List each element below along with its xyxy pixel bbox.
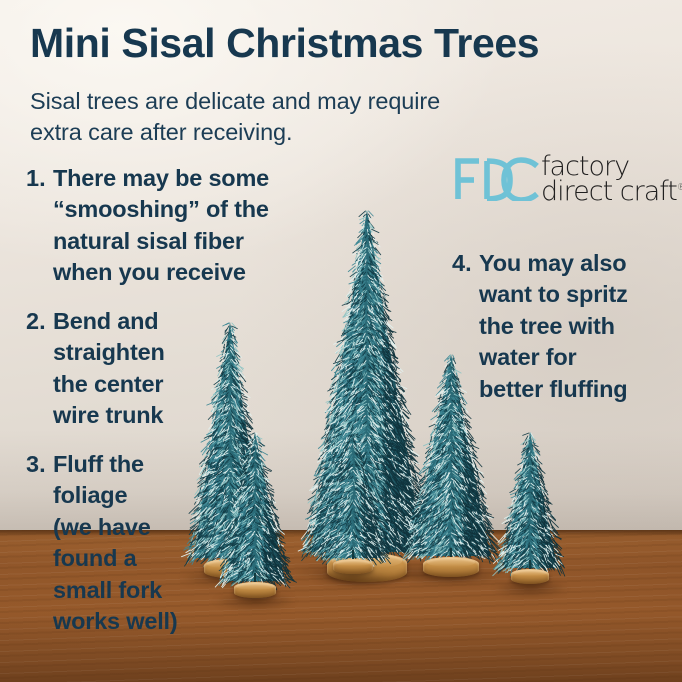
instruction-text-line: “smooshing” of the xyxy=(53,194,269,225)
instruction-text-line: water for xyxy=(479,342,628,373)
instruction-text-line: There may be some xyxy=(53,163,269,194)
instruction-item: 1.There may be some“smooshing” of thenat… xyxy=(26,163,316,289)
logo-word-line-2-text: direct craft xyxy=(541,176,677,207)
instruction-list-left: 1.There may be some“smooshing” of thenat… xyxy=(26,163,316,655)
instruction-text-line: foliage xyxy=(53,480,177,511)
instruction-text: There may be some“smooshing” of thenatur… xyxy=(53,163,269,289)
instruction-number: 4. xyxy=(452,248,479,405)
instruction-text-line: small fork xyxy=(53,575,177,606)
instruction-text: Bend andstraightenthe centerwire trunk xyxy=(53,306,165,432)
instruction-item: 4.You may alsowant to spritzthe tree wit… xyxy=(452,248,682,405)
instruction-number: 1. xyxy=(26,163,53,289)
instruction-text-line: Fluff the xyxy=(53,449,177,480)
tree-wood-base xyxy=(333,559,373,574)
instruction-number: 3. xyxy=(26,449,53,638)
instruction-text-line: You may also xyxy=(479,248,628,279)
instruction-text-line: want to spritz xyxy=(479,279,628,310)
infographic-canvas: Mini Sisal Christmas Trees Sisal trees a… xyxy=(0,0,682,682)
instruction-text: You may alsowant to spritzthe tree withw… xyxy=(479,248,628,405)
instruction-text-line: found a xyxy=(53,543,177,574)
factory-direct-craft-logo[interactable]: factory direct craft® xyxy=(452,152,682,208)
tree-far-right xyxy=(500,430,560,572)
instruction-text-line: the center xyxy=(53,369,165,400)
instruction-text-line: works well) xyxy=(53,606,177,637)
logo-wordmark: factory direct craft® xyxy=(541,155,682,205)
registered-trademark-icon: ® xyxy=(677,183,682,193)
instruction-number: 2. xyxy=(26,306,53,432)
instruction-text-line: straighten xyxy=(53,337,165,368)
instruction-text-line: Bend and xyxy=(53,306,165,337)
instruction-text-line: natural sisal fiber xyxy=(53,226,269,257)
instruction-item: 2.Bend andstraightenthe centerwire trunk xyxy=(26,306,316,432)
fdc-monogram-icon xyxy=(452,155,540,206)
instruction-list-right: 4.You may alsowant to spritzthe tree wit… xyxy=(452,248,682,422)
page-subtitle: Sisal trees are delicate and may require… xyxy=(30,86,440,147)
subtitle-line-1: Sisal trees are delicate and may require xyxy=(30,86,440,117)
tree-wood-base xyxy=(511,569,549,584)
instruction-text-line: the tree with xyxy=(479,311,628,342)
instruction-text-line: when you receive xyxy=(53,257,269,288)
instruction-text-line: (we have xyxy=(53,512,177,543)
tree-wood-base xyxy=(423,557,478,577)
page-title: Mini Sisal Christmas Trees xyxy=(30,23,539,64)
instruction-item: 3.Fluff thefoliage(we havefound asmall f… xyxy=(26,449,316,638)
logo-word-line-2: direct craft® xyxy=(541,180,682,205)
instruction-text: Fluff thefoliage(we havefound asmall for… xyxy=(53,449,177,638)
tree-center-small xyxy=(322,432,384,562)
instruction-text-line: wire trunk xyxy=(53,400,165,431)
subtitle-line-2: extra care after receiving. xyxy=(30,117,440,148)
instruction-text-line: better fluffing xyxy=(479,374,628,405)
